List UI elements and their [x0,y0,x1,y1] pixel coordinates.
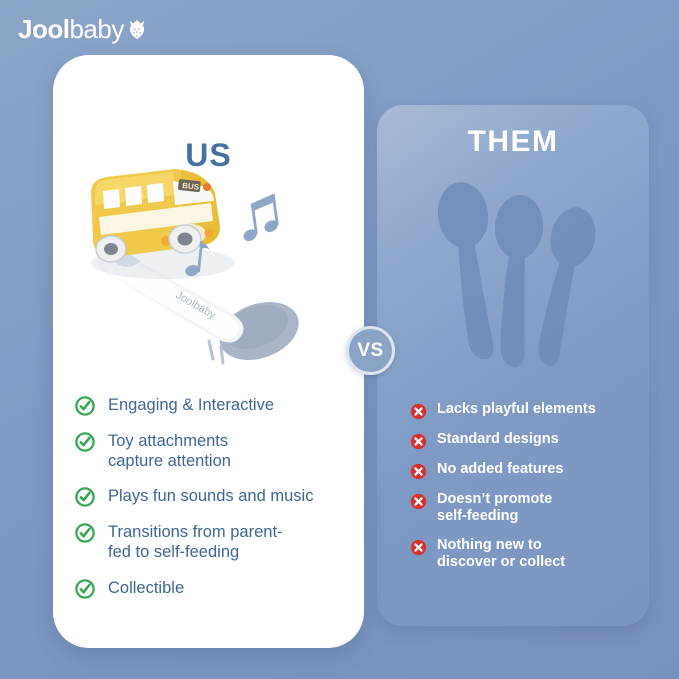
list-item-label: Lacks playful elements [437,401,596,418]
list-item-label: Transitions from parent- fed to self-fee… [108,522,283,562]
list-item-label: Standard designs [437,431,559,448]
list-item-label: Plays fun sounds and music [108,486,313,506]
list-item: Transitions from parent- fed to self-fee… [75,522,355,562]
brand-name-bold: Jool [18,16,69,42]
product-illustration: Joolbaby BUS [63,135,353,385]
check-circle-icon [75,396,95,416]
cross-circle-icon [410,433,427,450]
check-circle-icon [75,487,95,507]
them-title: THEM [377,125,649,159]
list-item-label: Nothing new to discover or collect [437,537,565,572]
cross-circle-icon [410,493,427,510]
list-item-label: No added features [437,461,564,478]
list-item-label: Collectible [108,578,184,598]
us-feature-list: Engaging & Interactive Toy attachments c… [75,395,355,614]
strawberry-crown-icon [127,18,147,40]
cross-circle-icon [410,539,427,556]
list-item-label: Engaging & Interactive [108,395,274,415]
svg-text:BUS: BUS [182,181,200,192]
list-item-label: Doesn’t promote self-feeding [437,491,552,526]
vs-badge-label: VS [357,340,383,362]
cross-circle-icon [410,463,427,480]
yellow-school-bus-toy-icon: BUS [91,169,235,279]
list-item: Engaging & Interactive [75,395,355,416]
list-item: Standard designs [410,431,642,450]
list-item-label: Toy attachments capture attention [108,431,231,471]
check-circle-icon [75,579,95,599]
check-circle-icon [75,523,95,543]
list-item: Collectible [75,578,355,599]
three-plain-spoons-silhouette-icon [427,175,607,370]
vs-badge: VS [346,326,395,375]
list-item: Lacks playful elements [410,401,642,420]
them-panel: THEM [377,105,649,626]
them-feature-list: Lacks playful elements Standard designs … [410,401,642,583]
us-card: US Joolbaby [53,55,364,648]
list-item: Toy attachments capture attention [75,431,355,471]
cross-circle-icon [410,403,427,420]
check-circle-icon [75,432,95,452]
comparison-infographic: Jool baby THEM [0,0,679,679]
brand-name-light: baby [69,16,123,42]
list-item: Doesn’t promote self-feeding [410,491,642,526]
list-item: Nothing new to discover or collect [410,537,642,572]
list-item: No added features [410,461,642,480]
list-item: Plays fun sounds and music [75,486,355,507]
brand-logo: Jool baby [18,16,147,42]
